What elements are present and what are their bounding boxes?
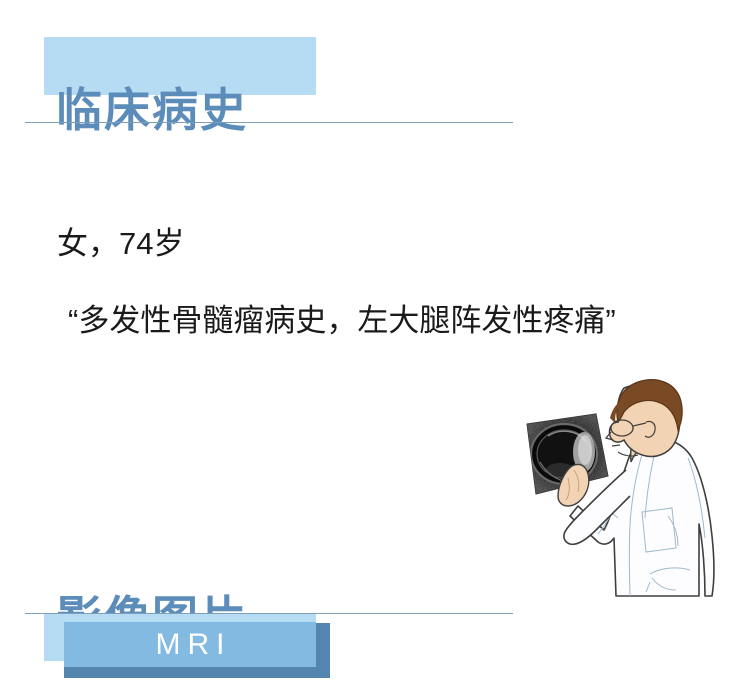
doctor-illustration [500, 366, 751, 656]
patient-demographics-line: 女，74岁 [57, 228, 184, 259]
chief-complaint-line: “多发性骨髓瘤病史，左大腿阵发性疼痛” [68, 305, 616, 336]
slide-canvas: 临床病史 女，74岁 “多发性骨髓瘤病史，左大腿阵发性疼痛” [0, 0, 751, 696]
clinical-history-divider [25, 122, 513, 123]
doctor-head [606, 380, 682, 457]
mri-banner: MRI [44, 614, 334, 682]
doctor-reading-mri-film-graphic [500, 366, 751, 656]
clinical-history-title: 临床病史 [56, 87, 248, 133]
mri-modality-label: MRI [64, 622, 316, 667]
